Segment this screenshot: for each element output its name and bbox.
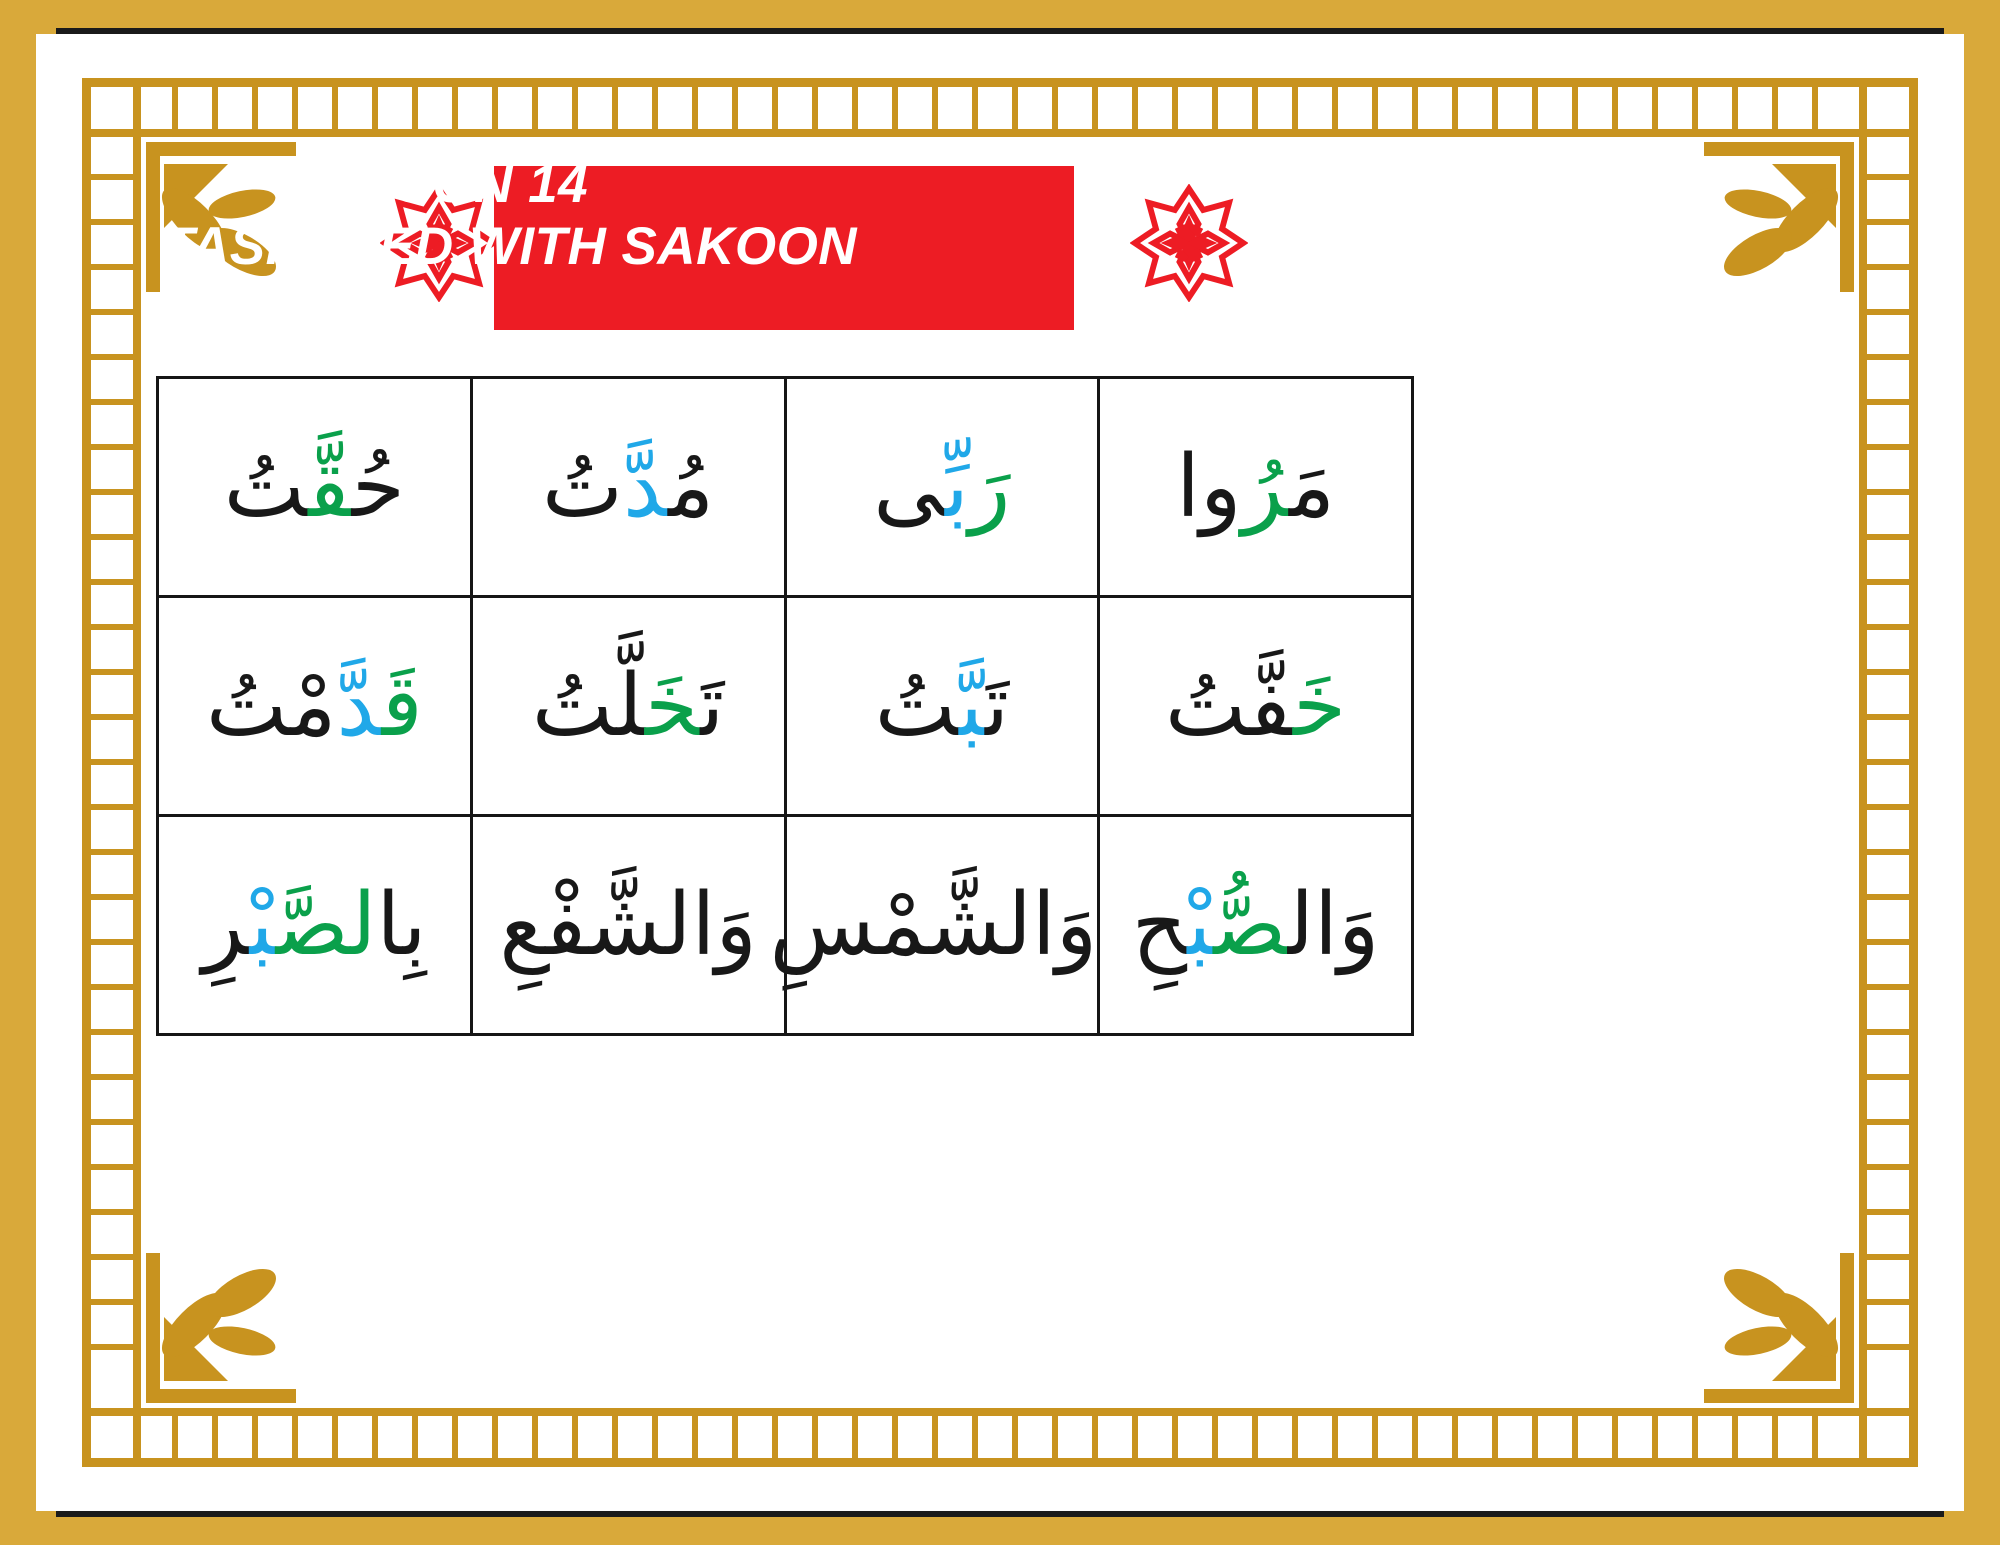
- slide-root: LESSON 14 TASHDEED WITH SAKOON: [0, 0, 2000, 1545]
- arabic-word: مَرُوا: [1100, 429, 1411, 545]
- table-body: حُقَّتُ مُدَّتُ رَبِّى مَرُوا قَدَّمْتُ …: [158, 378, 1413, 1035]
- word-cell[interactable]: تَخَلَّتُ: [471, 597, 785, 816]
- lesson-title-line-1: LESSON 14: [162, 154, 1020, 216]
- arabic-word: وَالصُّبْحِ: [1100, 867, 1411, 983]
- arabic-word: بِالصَّبْرِ: [159, 867, 470, 983]
- arabic-word: وَالشَّفْعِ: [473, 867, 784, 983]
- word-cell[interactable]: خَفَّتُ: [1099, 597, 1413, 816]
- arabic-word: مُدَّتُ: [473, 429, 784, 545]
- arabic-word: رَبِّى: [787, 429, 1098, 545]
- word-cell[interactable]: قَدَّمْتُ: [158, 597, 472, 816]
- eight-point-star-icon: [1130, 184, 1248, 302]
- word-cell[interactable]: تَبَّتُ: [785, 597, 1099, 816]
- word-cell[interactable]: مَرُوا: [1099, 378, 1413, 597]
- arabic-word: وَالشَّمْسِ: [787, 867, 1098, 983]
- word-cell[interactable]: بِالصَّبْرِ: [158, 816, 472, 1035]
- lesson-title: LESSON 14 TASHDEED WITH SAKOON: [120, 154, 1020, 278]
- table-row: قَدَّمْتُ تَخَلَّتُ تَبَّتُ خَفَّتُ: [158, 597, 1413, 816]
- word-cell[interactable]: مُدَّتُ: [471, 378, 785, 597]
- arabic-word: خَفَّتُ: [1100, 648, 1411, 764]
- arabic-word: قَدَّمْتُ: [159, 648, 470, 764]
- slide-content: LESSON 14 TASHDEED WITH SAKOON: [120, 90, 1880, 1455]
- table-row: حُقَّتُ مُدَّتُ رَبِّى مَرُوا: [158, 378, 1413, 597]
- word-cell[interactable]: رَبِّى: [785, 378, 1099, 597]
- slide-header: LESSON 14 TASHDEED WITH SAKOON: [120, 136, 1880, 326]
- arabic-word-table: حُقَّتُ مُدَّتُ رَبِّى مَرُوا قَدَّمْتُ …: [156, 376, 1414, 1036]
- lesson-title-line-2: TASHDEED WITH SAKOON: [162, 216, 1020, 278]
- word-cell[interactable]: وَالشَّفْعِ: [471, 816, 785, 1035]
- word-cell[interactable]: حُقَّتُ: [158, 378, 472, 597]
- arabic-word: حُقَّتُ: [159, 429, 470, 545]
- word-cell[interactable]: وَالصُّبْحِ: [1099, 816, 1413, 1035]
- table-row: بِالصَّبْرِ وَالشَّفْعِ وَالشَّمْسِ وَال…: [158, 816, 1413, 1035]
- arabic-word: تَبَّتُ: [787, 648, 1098, 764]
- word-cell[interactable]: وَالشَّمْسِ: [785, 816, 1099, 1035]
- arabic-word: تَخَلَّتُ: [473, 648, 784, 764]
